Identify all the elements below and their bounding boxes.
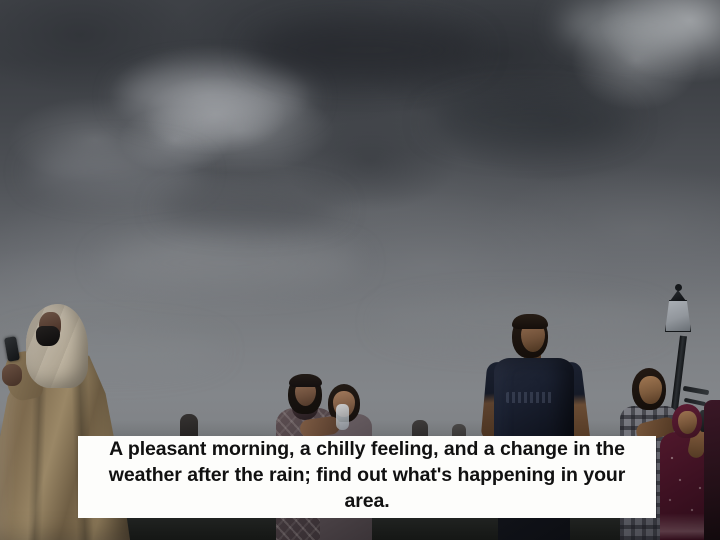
screenshot-canvas: A pleasant morning, a chilly feeling, an… — [0, 0, 720, 540]
street-lamp-lantern — [665, 300, 691, 332]
street-lamp-finial — [675, 284, 682, 291]
caption-text: A pleasant morning, a chilly feeling, an… — [90, 437, 644, 515]
man-tshirt-hair — [512, 314, 548, 329]
edge-figure-silhouette — [704, 400, 720, 540]
girl-bob-fringe — [289, 374, 322, 387]
woman-headscarf-face-mask — [36, 326, 60, 346]
water-bottle — [336, 404, 349, 430]
woman-headscarf-hand — [2, 364, 22, 386]
caption-banner: A pleasant morning, a chilly feeling, an… — [78, 436, 656, 518]
tshirt-print-graphic — [506, 392, 554, 403]
